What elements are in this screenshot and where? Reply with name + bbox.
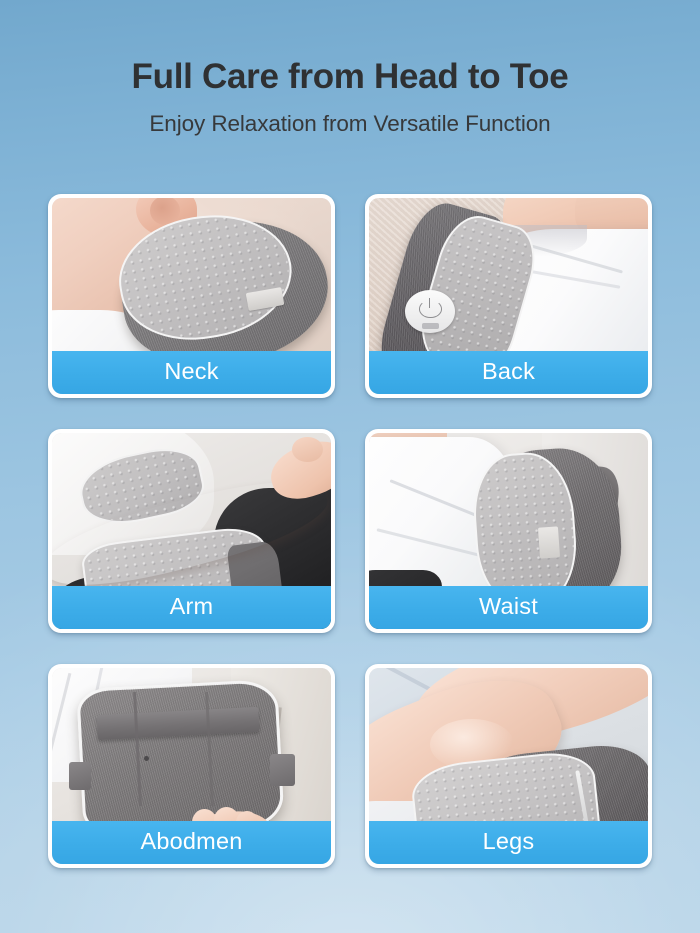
feature-card-grid: Neck <box>48 194 652 868</box>
card-label-arm: Arm <box>170 595 214 619</box>
card-photo-neck: Neck <box>52 198 331 394</box>
card-label-bar-arm: Arm <box>52 586 331 629</box>
feature-card-neck[interactable]: Neck <box>48 194 335 398</box>
card-label-bar-legs: Legs <box>369 821 648 864</box>
feature-card-arm[interactable]: Arm <box>48 429 335 633</box>
feature-card-abdomen[interactable]: Abodmen <box>48 664 335 868</box>
infographic-page: Full Care from Head to Toe Enjoy Relaxat… <box>0 0 700 933</box>
page-title: Full Care from Head to Toe <box>0 0 700 95</box>
card-photo-legs: Legs <box>369 668 648 864</box>
card-label-legs: Legs <box>483 830 535 854</box>
card-label-back: Back <box>482 360 535 384</box>
card-label-neck: Neck <box>164 360 218 384</box>
feature-card-back[interactable]: Back <box>365 194 652 398</box>
card-photo-waist: Waist <box>369 433 648 629</box>
header: Full Care from Head to Toe Enjoy Relaxat… <box>0 0 700 137</box>
card-label-bar-back: Back <box>369 351 648 394</box>
feature-card-legs[interactable]: Legs <box>365 664 652 868</box>
card-label-bar-abdomen: Abodmen <box>52 821 331 864</box>
page-subtitle: Enjoy Relaxation from Versatile Function <box>0 95 700 137</box>
card-photo-abdomen: Abodmen <box>52 668 331 864</box>
card-label-bar-waist: Waist <box>369 586 648 629</box>
card-photo-back: Back <box>369 198 648 394</box>
feature-card-waist[interactable]: Waist <box>365 429 652 633</box>
card-label-waist: Waist <box>479 595 538 619</box>
card-photo-arm: Arm <box>52 433 331 629</box>
power-icon <box>419 300 441 318</box>
card-label-bar-neck: Neck <box>52 351 331 394</box>
card-label-abdomen: Abodmen <box>141 830 243 854</box>
